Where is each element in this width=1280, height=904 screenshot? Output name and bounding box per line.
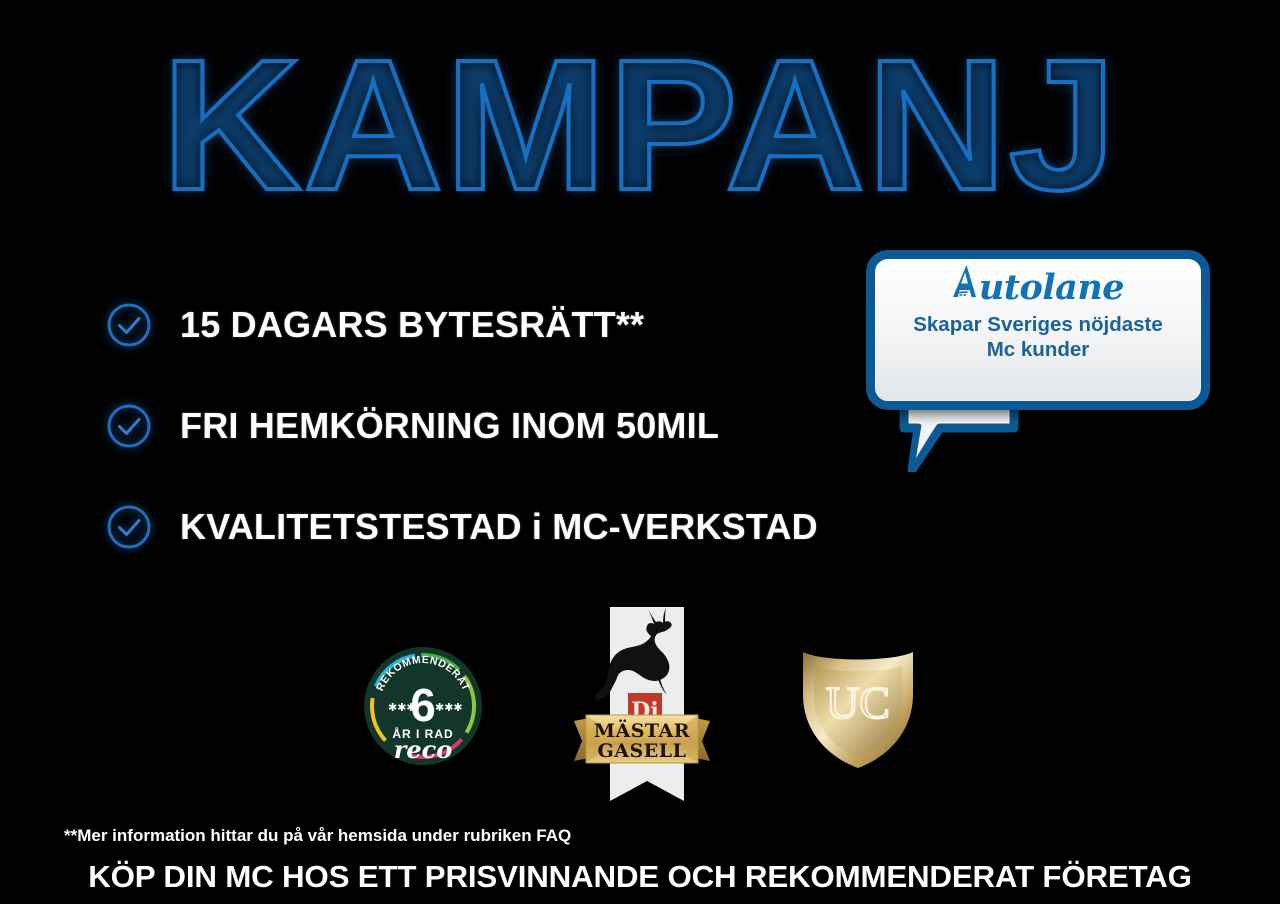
awards-badges: REKOMMENDERAT ✱✱✱ ✱✱✱ 6 ÅR I RAD reco (0, 600, 1280, 820)
autolane-logo-text: utolane (979, 266, 1124, 310)
uc-label: UC (826, 677, 890, 728)
gasell-ribbon-line2: GASELL (598, 740, 687, 762)
reco-brand: reco (394, 735, 453, 764)
di-mastar-gasell-badge: Di MÄSTAR GASELL (572, 605, 712, 815)
autolane-a-lane-icon (952, 265, 978, 299)
list-item: 15 DAGARS BYTESRÄTT** (106, 290, 906, 360)
gasell-ribbon-line1: MÄSTAR (594, 719, 690, 742)
uc-badge: UC (797, 642, 919, 770)
autolane-tagline: Skapar Sveriges nöjdaste Mc kunder (913, 312, 1163, 362)
list-item-label: 15 DAGARS BYTESRÄTT** (180, 305, 644, 345)
list-item-label: KVALITETSTESTAD i MC-VERKSTAD (180, 507, 818, 547)
page-title: KAMPANJ (0, 26, 1280, 226)
check-circle-icon (106, 302, 152, 348)
speech-bubble-body: utolane Skapar Sveriges nöjdaste Mc kund… (866, 250, 1210, 410)
reco-badge: REKOMMENDERAT ✱✱✱ ✱✱✱ 6 ÅR I RAD reco (362, 645, 484, 767)
list-item-label: FRI HEMKÖRNING INOM 50MIL (180, 406, 719, 446)
svg-text:✱✱✱: ✱✱✱ (435, 701, 463, 714)
reco-number: 6 (410, 679, 436, 731)
list-item: FRI HEMKÖRNING INOM 50MIL (106, 391, 906, 461)
autolane-speech-bubble: utolane Skapar Sveriges nöjdaste Mc kund… (866, 250, 1210, 472)
footer-tagline: KÖP DIN MC HOS ETT PRISVINNANDE OCH REKO… (0, 858, 1280, 896)
benefits-list: 15 DAGARS BYTESRÄTT** FRI HEMKÖRNING INO… (106, 290, 906, 593)
check-circle-icon (106, 403, 152, 449)
speech-bubble-tail-icon (896, 402, 1026, 472)
autolane-logo: utolane (952, 265, 1124, 310)
footnote-text: **Mer information hittar du på vår hemsi… (64, 825, 571, 847)
check-circle-icon (106, 504, 152, 550)
list-item: KVALITETSTESTAD i MC-VERKSTAD (106, 492, 906, 562)
